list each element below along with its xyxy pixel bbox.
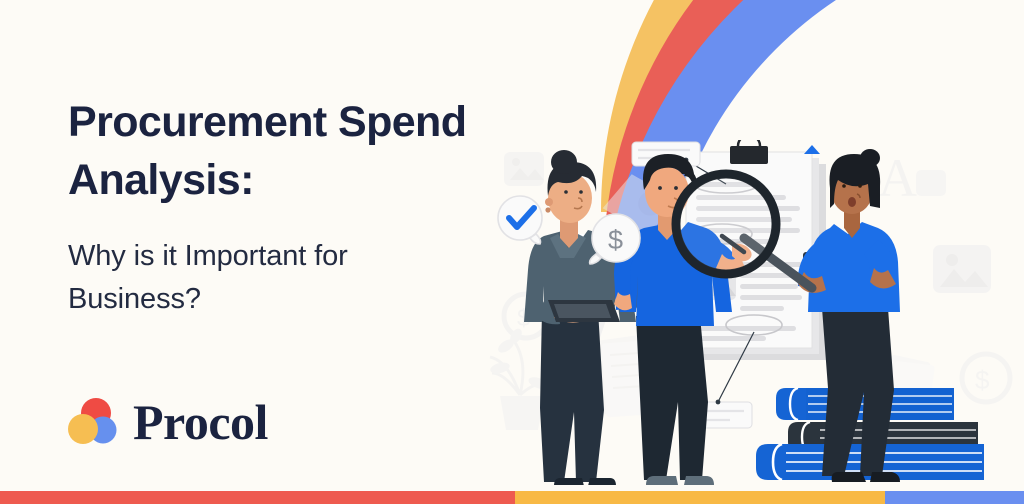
hero-illustration: A $ $ (486, 140, 1024, 485)
image-tile-icon (504, 152, 544, 186)
potted-plant-icon (489, 327, 549, 430)
image-tile-icon-3 (916, 170, 946, 196)
image-tile-dot-2 (946, 254, 958, 266)
image-tile-dot (512, 158, 520, 166)
binder-clip-icon (730, 140, 768, 164)
banner-canvas: Procurement Spend Analysis: Why is it Im… (0, 0, 1024, 504)
bottom-bar-red-segment (0, 491, 515, 504)
bottom-bar-blue-segment (885, 491, 1024, 504)
checkmark-bubble-icon (498, 196, 542, 244)
dollar-symbol: $ (608, 225, 623, 255)
coin-symbol-2: $ (975, 365, 990, 395)
procol-wordmark: Procol (133, 397, 268, 447)
bottom-color-bar (0, 491, 1024, 504)
procol-logo-mark-icon (66, 396, 122, 448)
board-tab-top (804, 145, 820, 154)
letter-a-watermark: A (878, 148, 917, 208)
dollar-bubble-icon: $ (590, 214, 640, 264)
bottom-bar-yellow-segment (515, 491, 885, 504)
procol-logo[interactable]: Procol (66, 396, 268, 448)
